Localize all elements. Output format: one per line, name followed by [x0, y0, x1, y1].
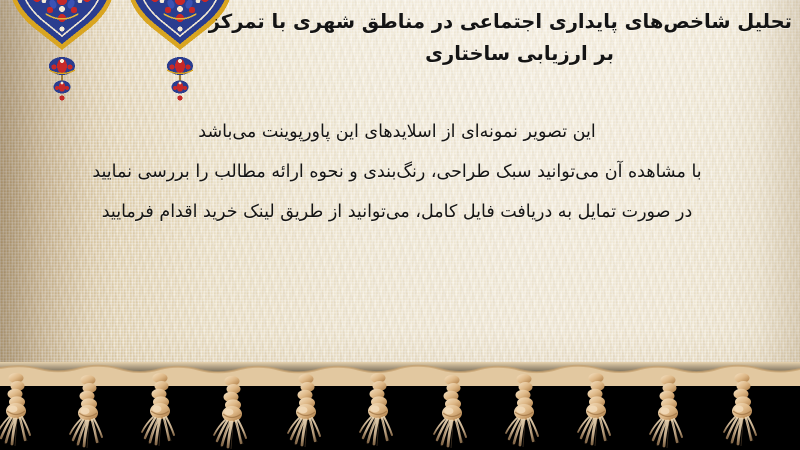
fringe-tassel	[578, 373, 610, 446]
fringe-tassel	[0, 373, 30, 446]
fringe-tassel	[214, 376, 246, 449]
body-line-1: این تصویر نمونه‌ای از اسلایدهای این پاور…	[6, 112, 788, 152]
fringe-tassel	[70, 375, 102, 448]
slide-body-text: این تصویر نمونه‌ای از اسلایدهای این پاور…	[6, 112, 788, 232]
body-line-3: در صورت تمایل به دریافت فایل کامل، می‌تو…	[6, 192, 788, 232]
fringe-tassel	[506, 374, 538, 447]
fringe-tassel	[288, 374, 320, 447]
fringe-tassel	[434, 375, 466, 448]
body-line-2: با مشاهده آن می‌توانید سبک طراحی، رنگ‌بن…	[6, 152, 788, 192]
fringe-tassel	[724, 373, 756, 446]
fringe-tassels	[0, 373, 756, 449]
slide-title: تحلیل شاخص‌های پایداری اجتماعی در مناطق …	[247, 6, 792, 70]
slide-title-line-1: تحلیل شاخص‌های پایداری اجتماعی در مناطق …	[247, 6, 792, 38]
fringe-tassel	[650, 375, 682, 448]
fringe-tassel	[142, 373, 174, 446]
slide-canvas: تحلیل شاخص‌های پایداری اجتماعی در مناطق …	[0, 0, 800, 450]
fringe-tassel	[360, 373, 392, 446]
slide-title-line-2: بر ارزیابی ساختاری	[247, 38, 792, 70]
